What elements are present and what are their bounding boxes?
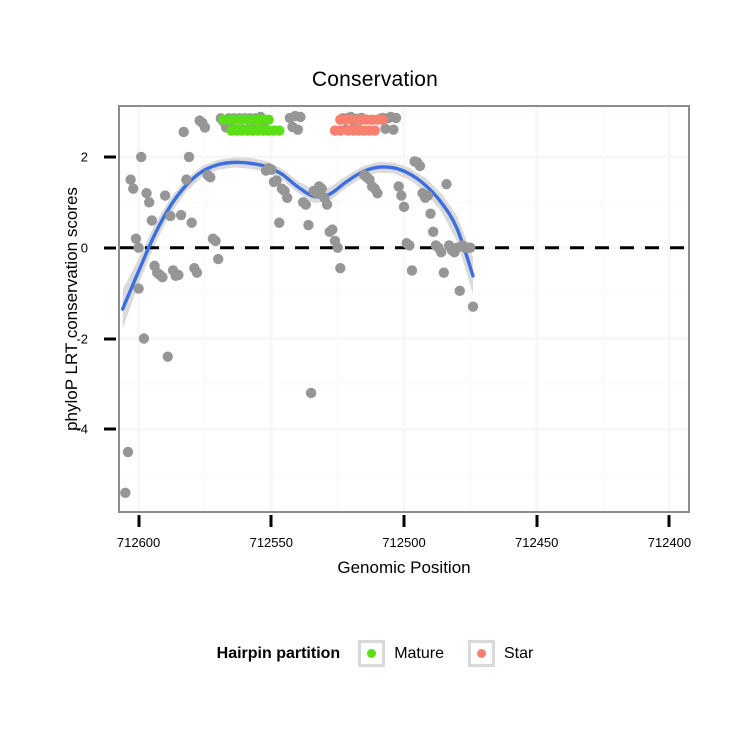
y-tick-mark bbox=[104, 428, 116, 431]
x-axis-title: Genomic Position bbox=[118, 558, 690, 578]
chart-root: Conservation phyloP LRT conservation sco… bbox=[0, 0, 750, 750]
plot-canvas bbox=[120, 107, 688, 511]
x-tick-mark bbox=[270, 515, 273, 527]
legend: Hairpin partition MatureStar bbox=[0, 640, 750, 667]
x-tick-label: 712450 bbox=[515, 535, 558, 550]
legend-dot-icon bbox=[477, 649, 486, 658]
legend-items: MatureStar bbox=[358, 640, 533, 667]
series-points bbox=[120, 111, 478, 498]
y-tick-label: 0 bbox=[81, 240, 88, 255]
x-tick-mark bbox=[403, 515, 406, 527]
legend-dot-icon bbox=[367, 649, 376, 658]
legend-key-swatch bbox=[468, 640, 495, 667]
x-tick-mark bbox=[668, 515, 671, 527]
x-tick-label: 712500 bbox=[382, 535, 425, 550]
y-tick-label: -4 bbox=[76, 422, 88, 437]
legend-item-star[interactable]: Star bbox=[468, 640, 533, 667]
x-tick-label: 712550 bbox=[250, 535, 293, 550]
legend-label: Mature bbox=[394, 645, 444, 663]
legend-label: Star bbox=[504, 645, 533, 663]
y-tick-label: 2 bbox=[81, 149, 88, 164]
x-tick-mark bbox=[535, 515, 538, 527]
legend-key-swatch bbox=[358, 640, 385, 667]
legend-title: Hairpin partition bbox=[217, 645, 341, 663]
legend-item-mature[interactable]: Mature bbox=[358, 640, 444, 667]
x-tick-label: 712600 bbox=[117, 535, 160, 550]
x-tick-label: 712400 bbox=[648, 535, 691, 550]
plot-panel bbox=[118, 105, 690, 513]
y-axis-title-wrapper: phyloP LRT conservation scores bbox=[42, 49, 66, 609]
y-tick-label: -2 bbox=[76, 331, 88, 346]
chart-title: Conservation bbox=[0, 68, 750, 92]
y-tick-mark bbox=[104, 337, 116, 340]
y-axis-title: phyloP LRT conservation scores bbox=[62, 29, 82, 589]
y-tick-mark bbox=[104, 155, 116, 158]
x-tick-mark bbox=[137, 515, 140, 527]
y-tick-mark bbox=[104, 246, 116, 249]
